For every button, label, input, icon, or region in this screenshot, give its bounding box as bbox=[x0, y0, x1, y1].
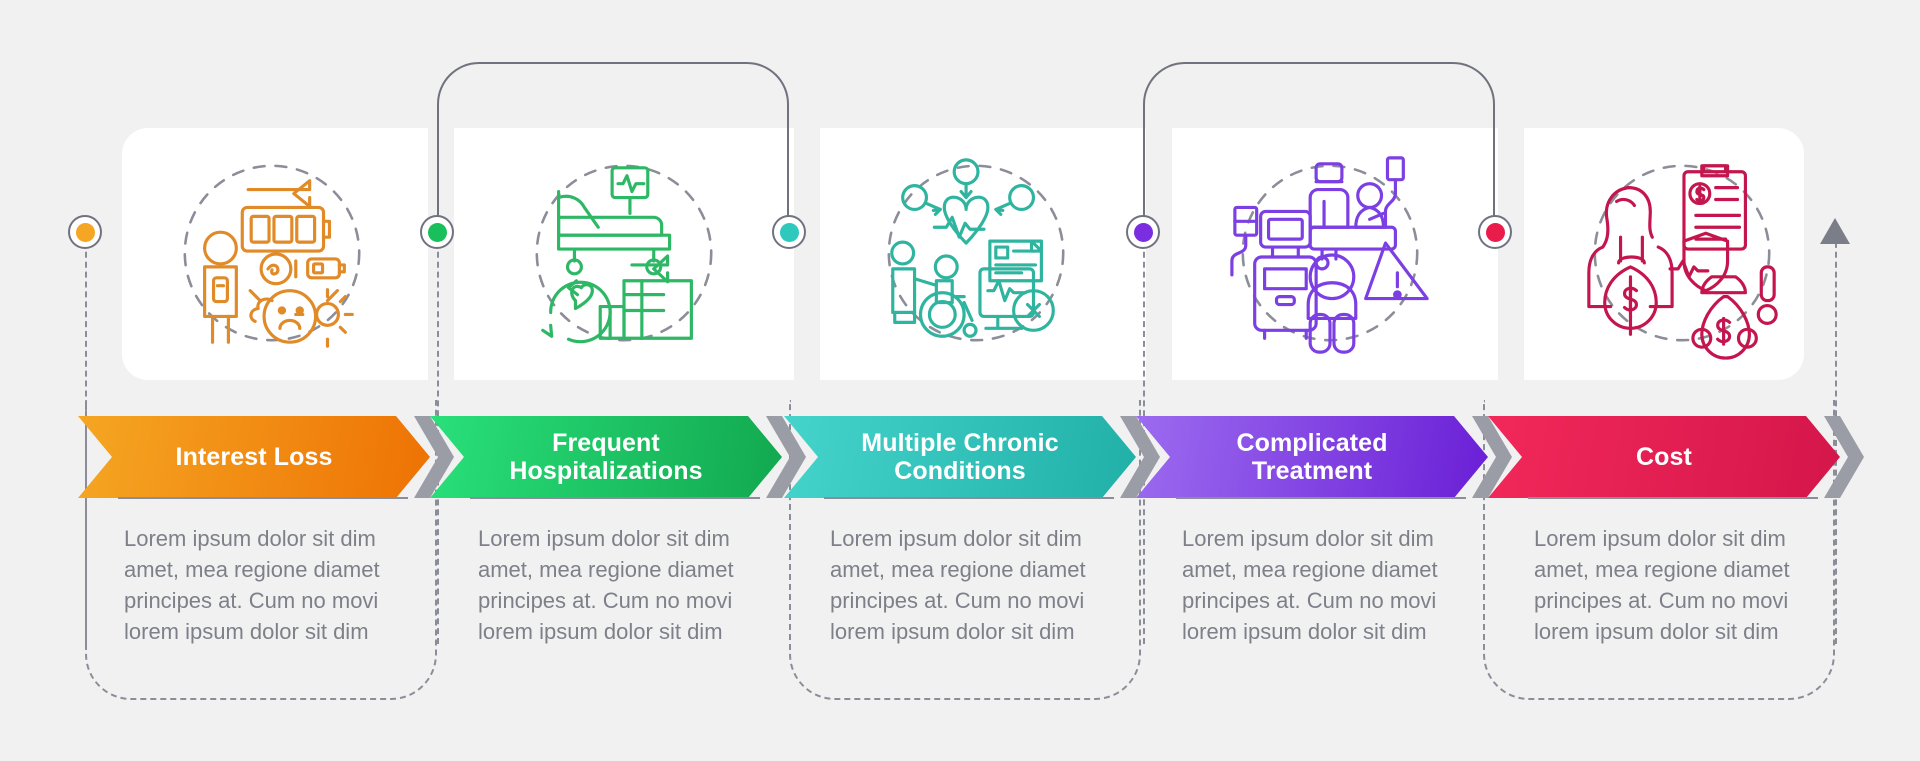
chevron-underline-4 bbox=[1176, 497, 1466, 499]
step-description-5: Lorem ipsum dolor sit dim amet, mea regi… bbox=[1534, 523, 1826, 647]
step-node-dot-2 bbox=[428, 223, 447, 242]
step-label-text-3: Multiple Chronic Conditions bbox=[843, 429, 1076, 485]
step-description-1: Lorem ipsum dolor sit dim amet, mea regi… bbox=[124, 523, 416, 647]
timeline-end-arrow-icon bbox=[1820, 218, 1850, 244]
chevron-underline-2 bbox=[470, 497, 760, 499]
step-node-3[interactable] bbox=[772, 215, 806, 249]
right-vertical-dash bbox=[1835, 232, 1837, 644]
step-label-text-1: Interest Loss bbox=[158, 443, 351, 471]
step-node-dot-4 bbox=[1134, 223, 1153, 242]
step-label-text-5: Cost bbox=[1618, 443, 1710, 471]
step-icon-1 bbox=[122, 140, 422, 370]
step-label-chevron-4[interactable]: Complicated Treatment bbox=[1136, 416, 1488, 498]
step-node-dot-5 bbox=[1486, 223, 1505, 242]
step-description-4: Lorem ipsum dolor sit dim amet, mea regi… bbox=[1182, 523, 1474, 647]
step-icon-4 bbox=[1180, 140, 1480, 370]
step-icon-3 bbox=[826, 140, 1126, 370]
step-node-dot-3 bbox=[780, 223, 799, 242]
step-node-5[interactable] bbox=[1478, 215, 1512, 249]
chevron-underline-5 bbox=[1528, 497, 1818, 499]
step-label-chevron-5[interactable]: Cost bbox=[1488, 416, 1840, 498]
card-band-notch bbox=[794, 128, 820, 380]
step-node-dot-1 bbox=[76, 223, 95, 242]
step-icon-2 bbox=[474, 140, 774, 370]
step-icon-5 bbox=[1532, 140, 1832, 370]
step-label-chevron-2[interactable]: Frequent Hospitalizations bbox=[430, 416, 782, 498]
step-label-chevron-1[interactable]: Interest Loss bbox=[78, 416, 430, 498]
chevron-underline-1 bbox=[118, 497, 408, 499]
step-node-4[interactable] bbox=[1126, 215, 1160, 249]
step-label-text-2: Frequent Hospitalizations bbox=[491, 429, 720, 485]
step-label-text-4: Complicated Treatment bbox=[1218, 429, 1405, 485]
chevron-underline-3 bbox=[824, 497, 1114, 499]
step-label-chevron-3[interactable]: Multiple Chronic Conditions bbox=[784, 416, 1136, 498]
step-node-1[interactable] bbox=[68, 215, 102, 249]
step-description-2: Lorem ipsum dolor sit dim amet, mea regi… bbox=[478, 523, 770, 647]
card-band-notch bbox=[1498, 128, 1524, 380]
step-node-2[interactable] bbox=[420, 215, 454, 249]
step-description-3: Lorem ipsum dolor sit dim amet, mea regi… bbox=[830, 523, 1122, 647]
infographic-canvas: Interest Loss Frequent Hospitalizations … bbox=[0, 0, 1920, 761]
